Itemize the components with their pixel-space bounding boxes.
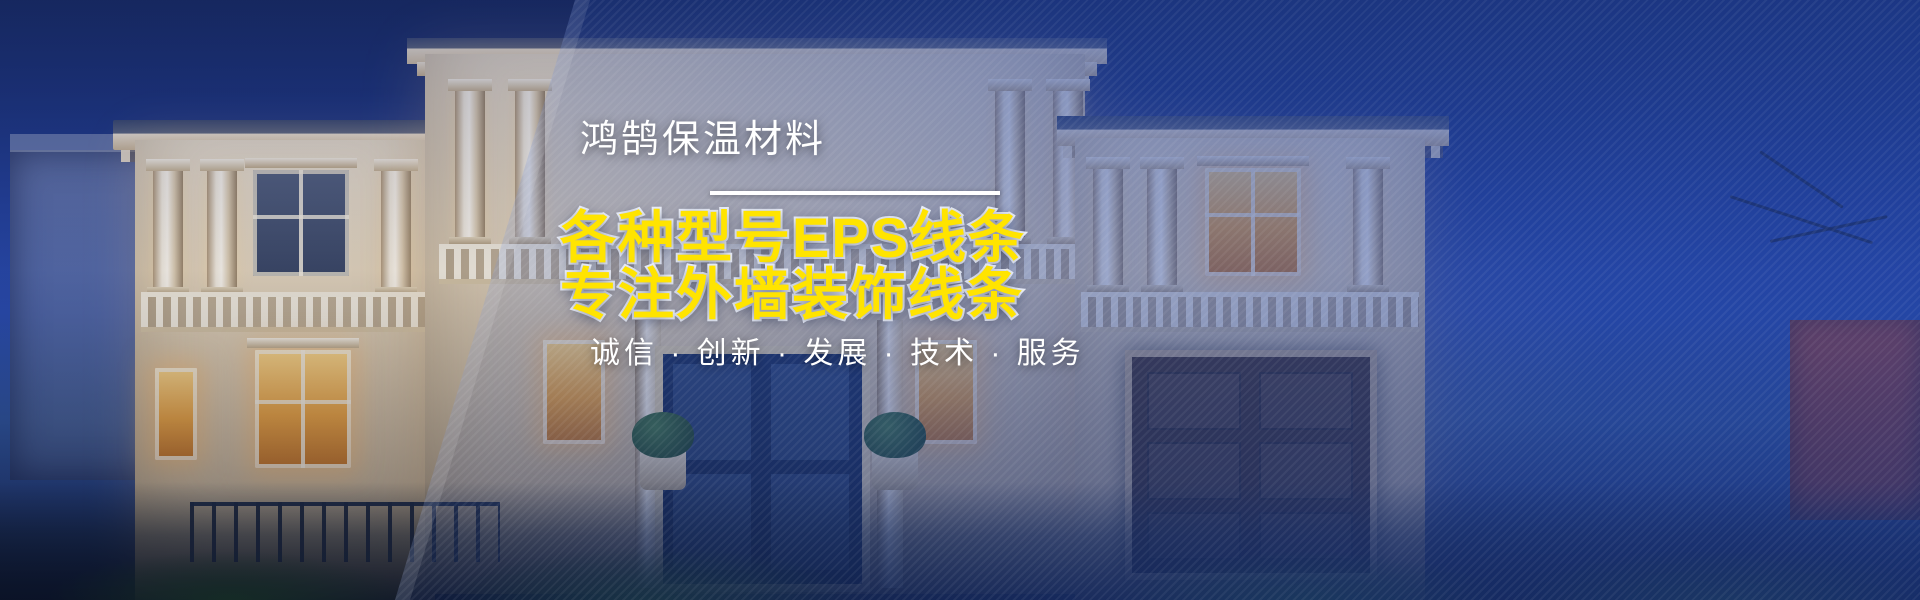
- fence-railing: [190, 502, 500, 562]
- banner-text-block: 鸿鹄保温材料 各种型号EPS线条 专注外墙装饰线条 诚信 · 创新 · 发展 ·…: [560, 0, 1920, 600]
- window: [253, 170, 349, 276]
- column: [207, 170, 237, 288]
- column: [381, 170, 411, 288]
- window-lit: [155, 368, 197, 460]
- tagline: 诚信 · 创新 · 发展 · 技术 · 服务: [590, 328, 1085, 372]
- window-cap: [247, 338, 359, 348]
- company-name: 鸿鹄保温材料: [580, 108, 826, 163]
- headline-line-2: 专注外墙装饰线条: [560, 250, 1024, 331]
- column: [455, 90, 485, 238]
- hero-banner: 鸿鹄保温材料 各种型号EPS线条 专注外墙装饰线条 诚信 · 创新 · 发展 ·…: [0, 0, 1920, 600]
- window-lit: [255, 350, 351, 468]
- balustrade: [141, 292, 433, 332]
- column: [515, 90, 545, 238]
- column: [153, 170, 183, 288]
- window-cap: [245, 158, 357, 168]
